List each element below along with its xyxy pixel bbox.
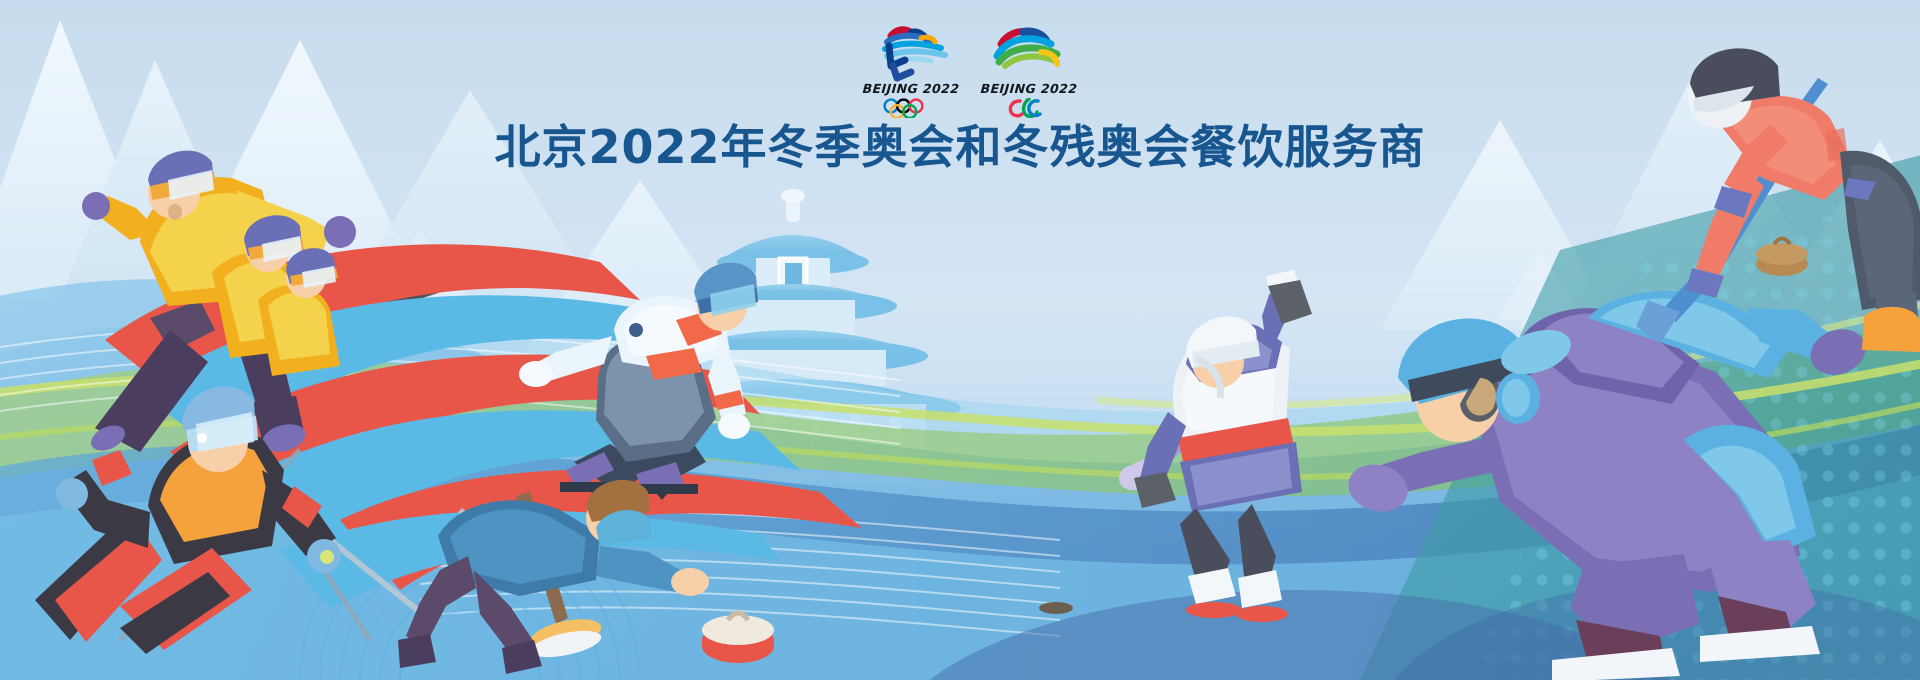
athlete-curler-delivering [1636, 48, 1920, 352]
page-title: 北京2022年冬季奥会和冬残奥会餐饮服务商 [0, 122, 1920, 173]
emblem-group: BEIJING 2022 [860, 22, 1080, 124]
paralympic-agitos-icon [998, 98, 1060, 118]
athlete-speed-skater-purple [1343, 291, 1872, 680]
paralympic-wordmark: BEIJING 2022 [979, 83, 1080, 96]
curling-stone-red [702, 613, 774, 663]
olympic-banner: BEIJING 2022 [0, 0, 1920, 680]
paralympic-emblem-icon [979, 22, 1079, 82]
olympic-emblem-icon [861, 22, 961, 82]
athlete-ice-hockey [1039, 270, 1312, 622]
beijing-2022-olympic-logo: BEIJING 2022 [861, 22, 961, 124]
olympic-rings-icon [880, 98, 942, 118]
olympic-wordmark: BEIJING 2022 [861, 83, 962, 96]
beijing-2022-paralympic-logo: BEIJING 2022 [979, 22, 1079, 124]
